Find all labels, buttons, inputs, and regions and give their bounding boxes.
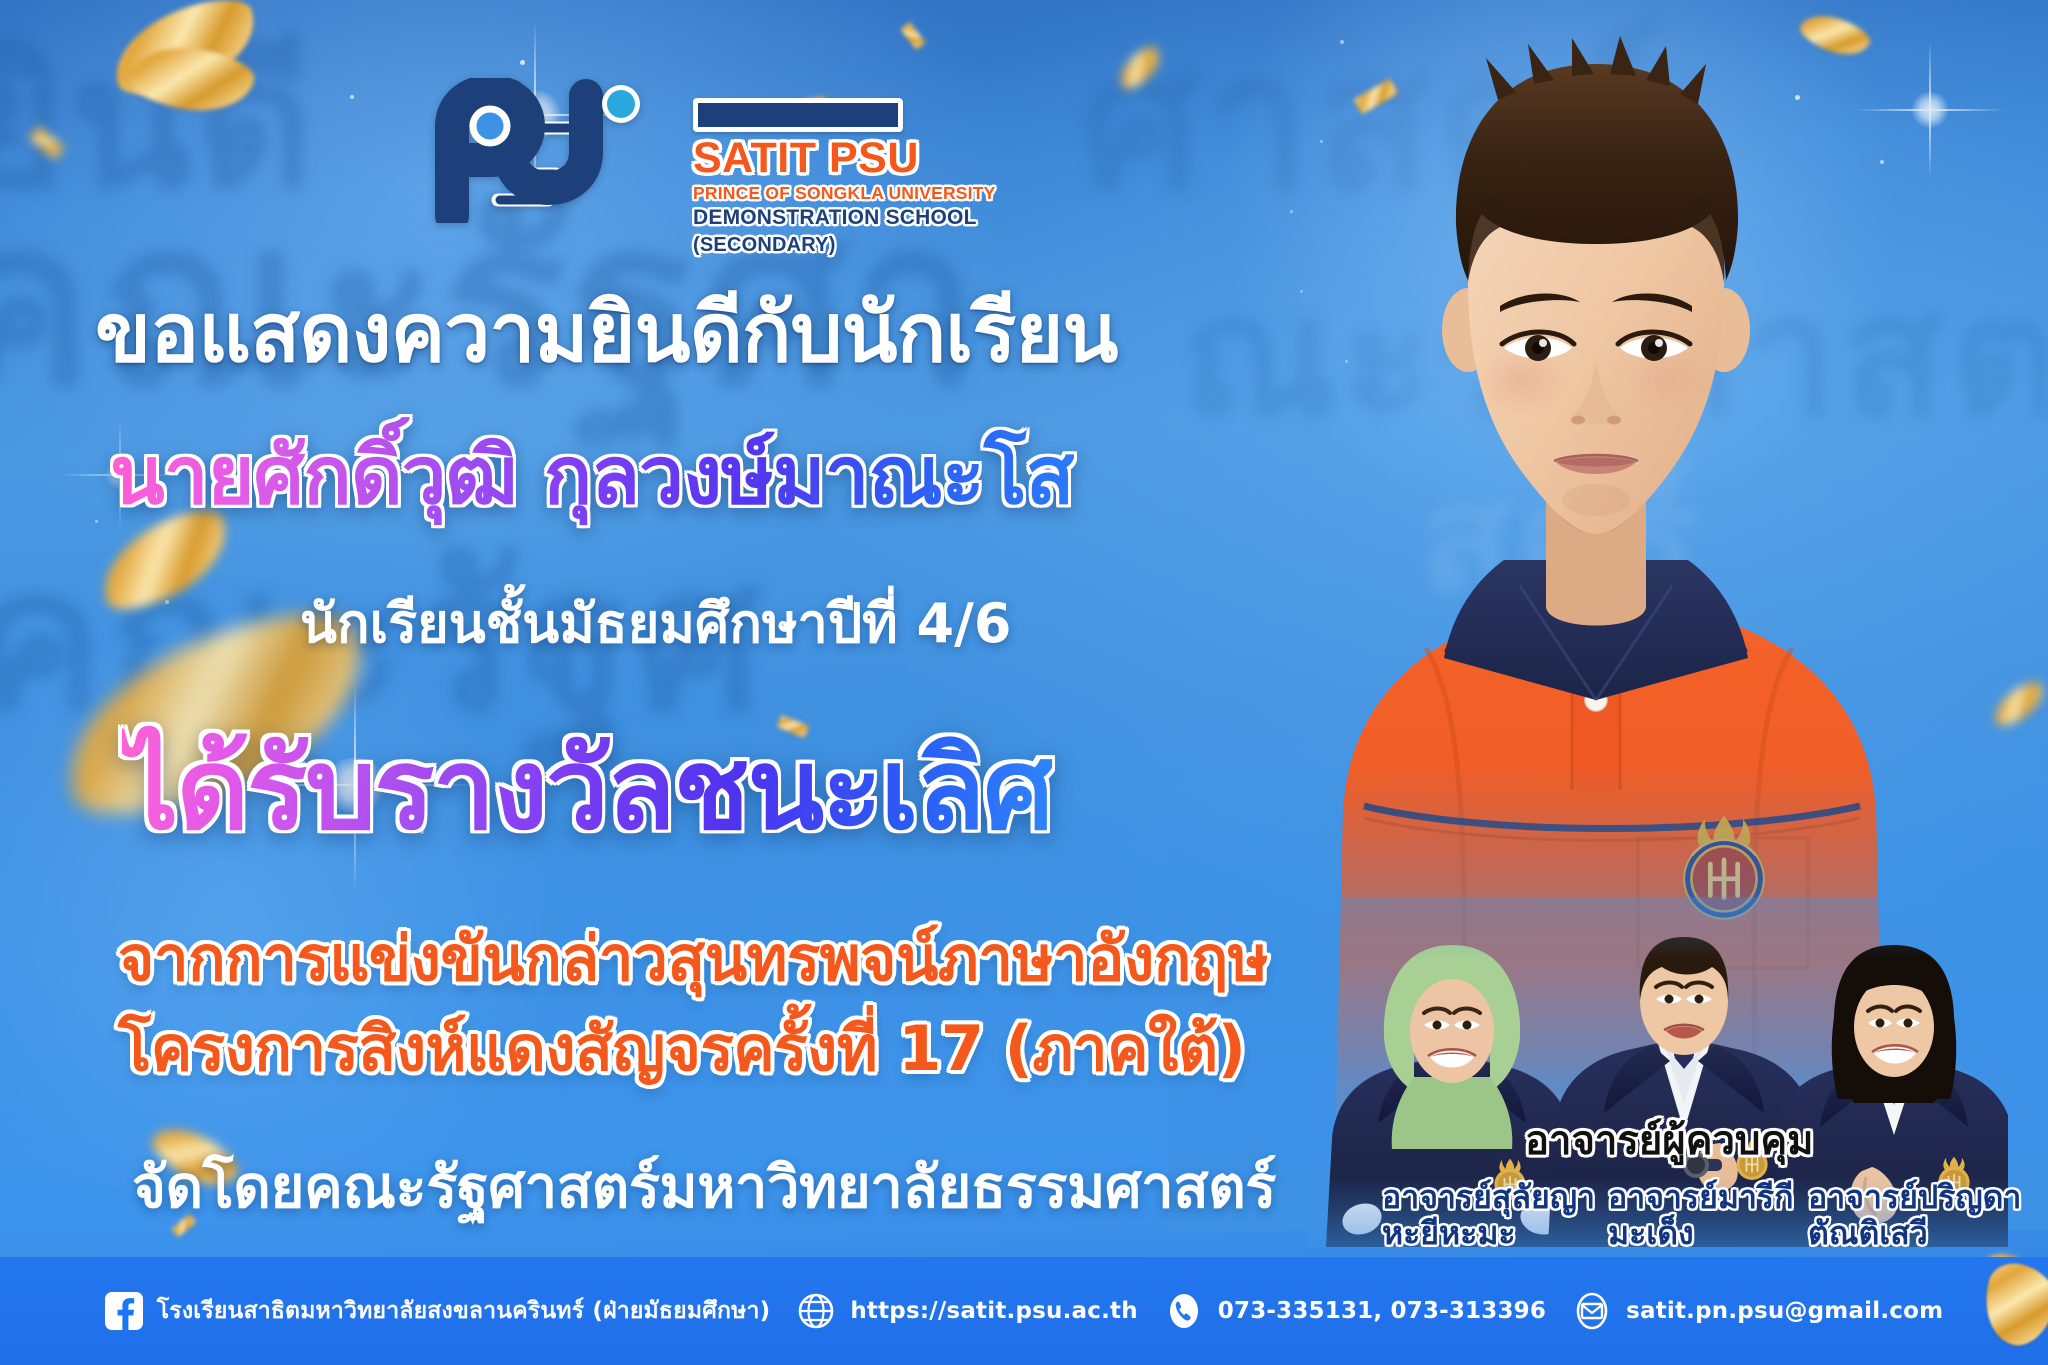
footer-facebook[interactable]: โรงเรียนสาธิตมหาวิทยาลัยสงขลานครินทร์ (ฝ… bbox=[105, 1292, 771, 1330]
teacher-name-1-line2: หะยีหะมะ bbox=[1382, 1216, 1595, 1252]
sparkle-star bbox=[1855, 40, 2005, 180]
satit-sub-level: (SECONDARY) bbox=[693, 234, 995, 257]
teacher-name-1-line1: อาจารย์สุลัยญา bbox=[1382, 1180, 1595, 1216]
satit-bar-accent bbox=[693, 98, 903, 132]
satit-sub-school: DEMONSTRATION SCHOOL bbox=[693, 206, 995, 230]
teacher-name-2-line1: อาจารย์มารีกี bbox=[1608, 1180, 1793, 1216]
sparkle-dust bbox=[520, 60, 525, 65]
background-watermark-6: สตร์ bbox=[1420, 420, 1702, 658]
footer-email[interactable]: satit.pn.psu@gmail.com bbox=[1572, 1291, 1943, 1331]
organizer-line: จัดโดยคณะรัฐศาสตร์มหาวิทยาลัยธรรมศาสตร์ bbox=[132, 1140, 1276, 1233]
student-class: นักเรียนชั้นมัธยมศึกษาปีที่ 4/6 bbox=[300, 580, 1011, 666]
phone-icon bbox=[1164, 1291, 1204, 1331]
teacher-name-1: อาจารย์สุลัยญา หะยีหะมะ bbox=[1382, 1180, 1595, 1252]
globe-icon bbox=[796, 1291, 836, 1331]
confetti-ribbon bbox=[1796, 5, 1874, 65]
sparkle-dust bbox=[1340, 40, 1344, 44]
satit-sub-university: PRINCE OF SONGKLA UNIVERSITY bbox=[693, 183, 995, 203]
sparkle-dust bbox=[1300, 290, 1303, 293]
website-label: https://satit.psu.ac.th bbox=[850, 1298, 1137, 1324]
sparkle-dust bbox=[350, 95, 354, 99]
phone-label: 073-335131, 073-313396 bbox=[1218, 1298, 1546, 1324]
school-logo-block: SATIT PSU PRINCE OF SONGKLA UNIVERSITY D… bbox=[430, 78, 995, 257]
sparkle-dust bbox=[1290, 210, 1293, 213]
competition-line-1: จากการแข่งขันกล่าวสุนทรพจน์ภาษาอังกฤษ bbox=[118, 910, 1268, 1008]
sparkle-dust bbox=[95, 520, 98, 523]
teacher-name-3-line2: ตัณติเสวี bbox=[1808, 1216, 2021, 1252]
facebook-label: โรงเรียนสาธิตมหาวิทยาลัยสงขลานครินทร์ (ฝ… bbox=[157, 1293, 771, 1329]
sparkle-dust bbox=[1880, 160, 1884, 164]
footer-phone[interactable]: 073-335131, 073-313396 bbox=[1164, 1291, 1546, 1331]
student-name: นายศักดิ์วุฒิ กุลวงษ์มาณะโส bbox=[110, 412, 1074, 539]
envelope-icon bbox=[1572, 1291, 1612, 1331]
poster-canvas: ยินดี คณะรัฐศา คณะรัฐศ ศาสตร์ ณะรัฐศาสตร… bbox=[0, 0, 2048, 1365]
confetti-ribbon bbox=[900, 22, 925, 50]
teacher-name-2-line2: มะเด็ง bbox=[1608, 1216, 1793, 1252]
sparkle-dust bbox=[1795, 95, 1800, 100]
facebook-icon bbox=[105, 1292, 143, 1330]
satit-title: SATIT PSU bbox=[693, 137, 995, 180]
teachers-heading: อาจารย์ผู้ควบคุม bbox=[1525, 1108, 1813, 1172]
sparkle-dust bbox=[1320, 140, 1323, 143]
teacher-name-2: อาจารย์มารีกี มะเด็ง bbox=[1608, 1180, 1793, 1252]
sparkle-dust bbox=[1345, 360, 1348, 363]
footer-website[interactable]: https://satit.psu.ac.th bbox=[796, 1291, 1137, 1331]
psu-logo-mark bbox=[430, 78, 675, 223]
teacher-name-3-line1: อาจารย์ปริญดา bbox=[1808, 1180, 2021, 1216]
congratulations-heading: ขอแสดงความยินดีกับนักเรียน bbox=[95, 268, 1117, 398]
award-title: ได้รับรางวัลชนะเลิศ bbox=[122, 700, 1052, 878]
email-label: satit.pn.psu@gmail.com bbox=[1626, 1298, 1943, 1324]
competition-line-2: โครงการสิงห์แดงสัญจรครั้งที่ 17 (ภาคใต้) bbox=[118, 1000, 1246, 1098]
sparkle-dust bbox=[165, 600, 169, 604]
satit-wordmark: SATIT PSU PRINCE OF SONGKLA UNIVERSITY D… bbox=[693, 78, 995, 257]
teacher-name-3: อาจารย์ปริญดา ตัณติเสวี bbox=[1808, 1180, 2021, 1252]
contact-footer: โรงเรียนสาธิตมหาวิทยาลัยสงขลานครินทร์ (ฝ… bbox=[0, 1257, 2048, 1365]
confetti-ribbon bbox=[1987, 677, 2048, 731]
